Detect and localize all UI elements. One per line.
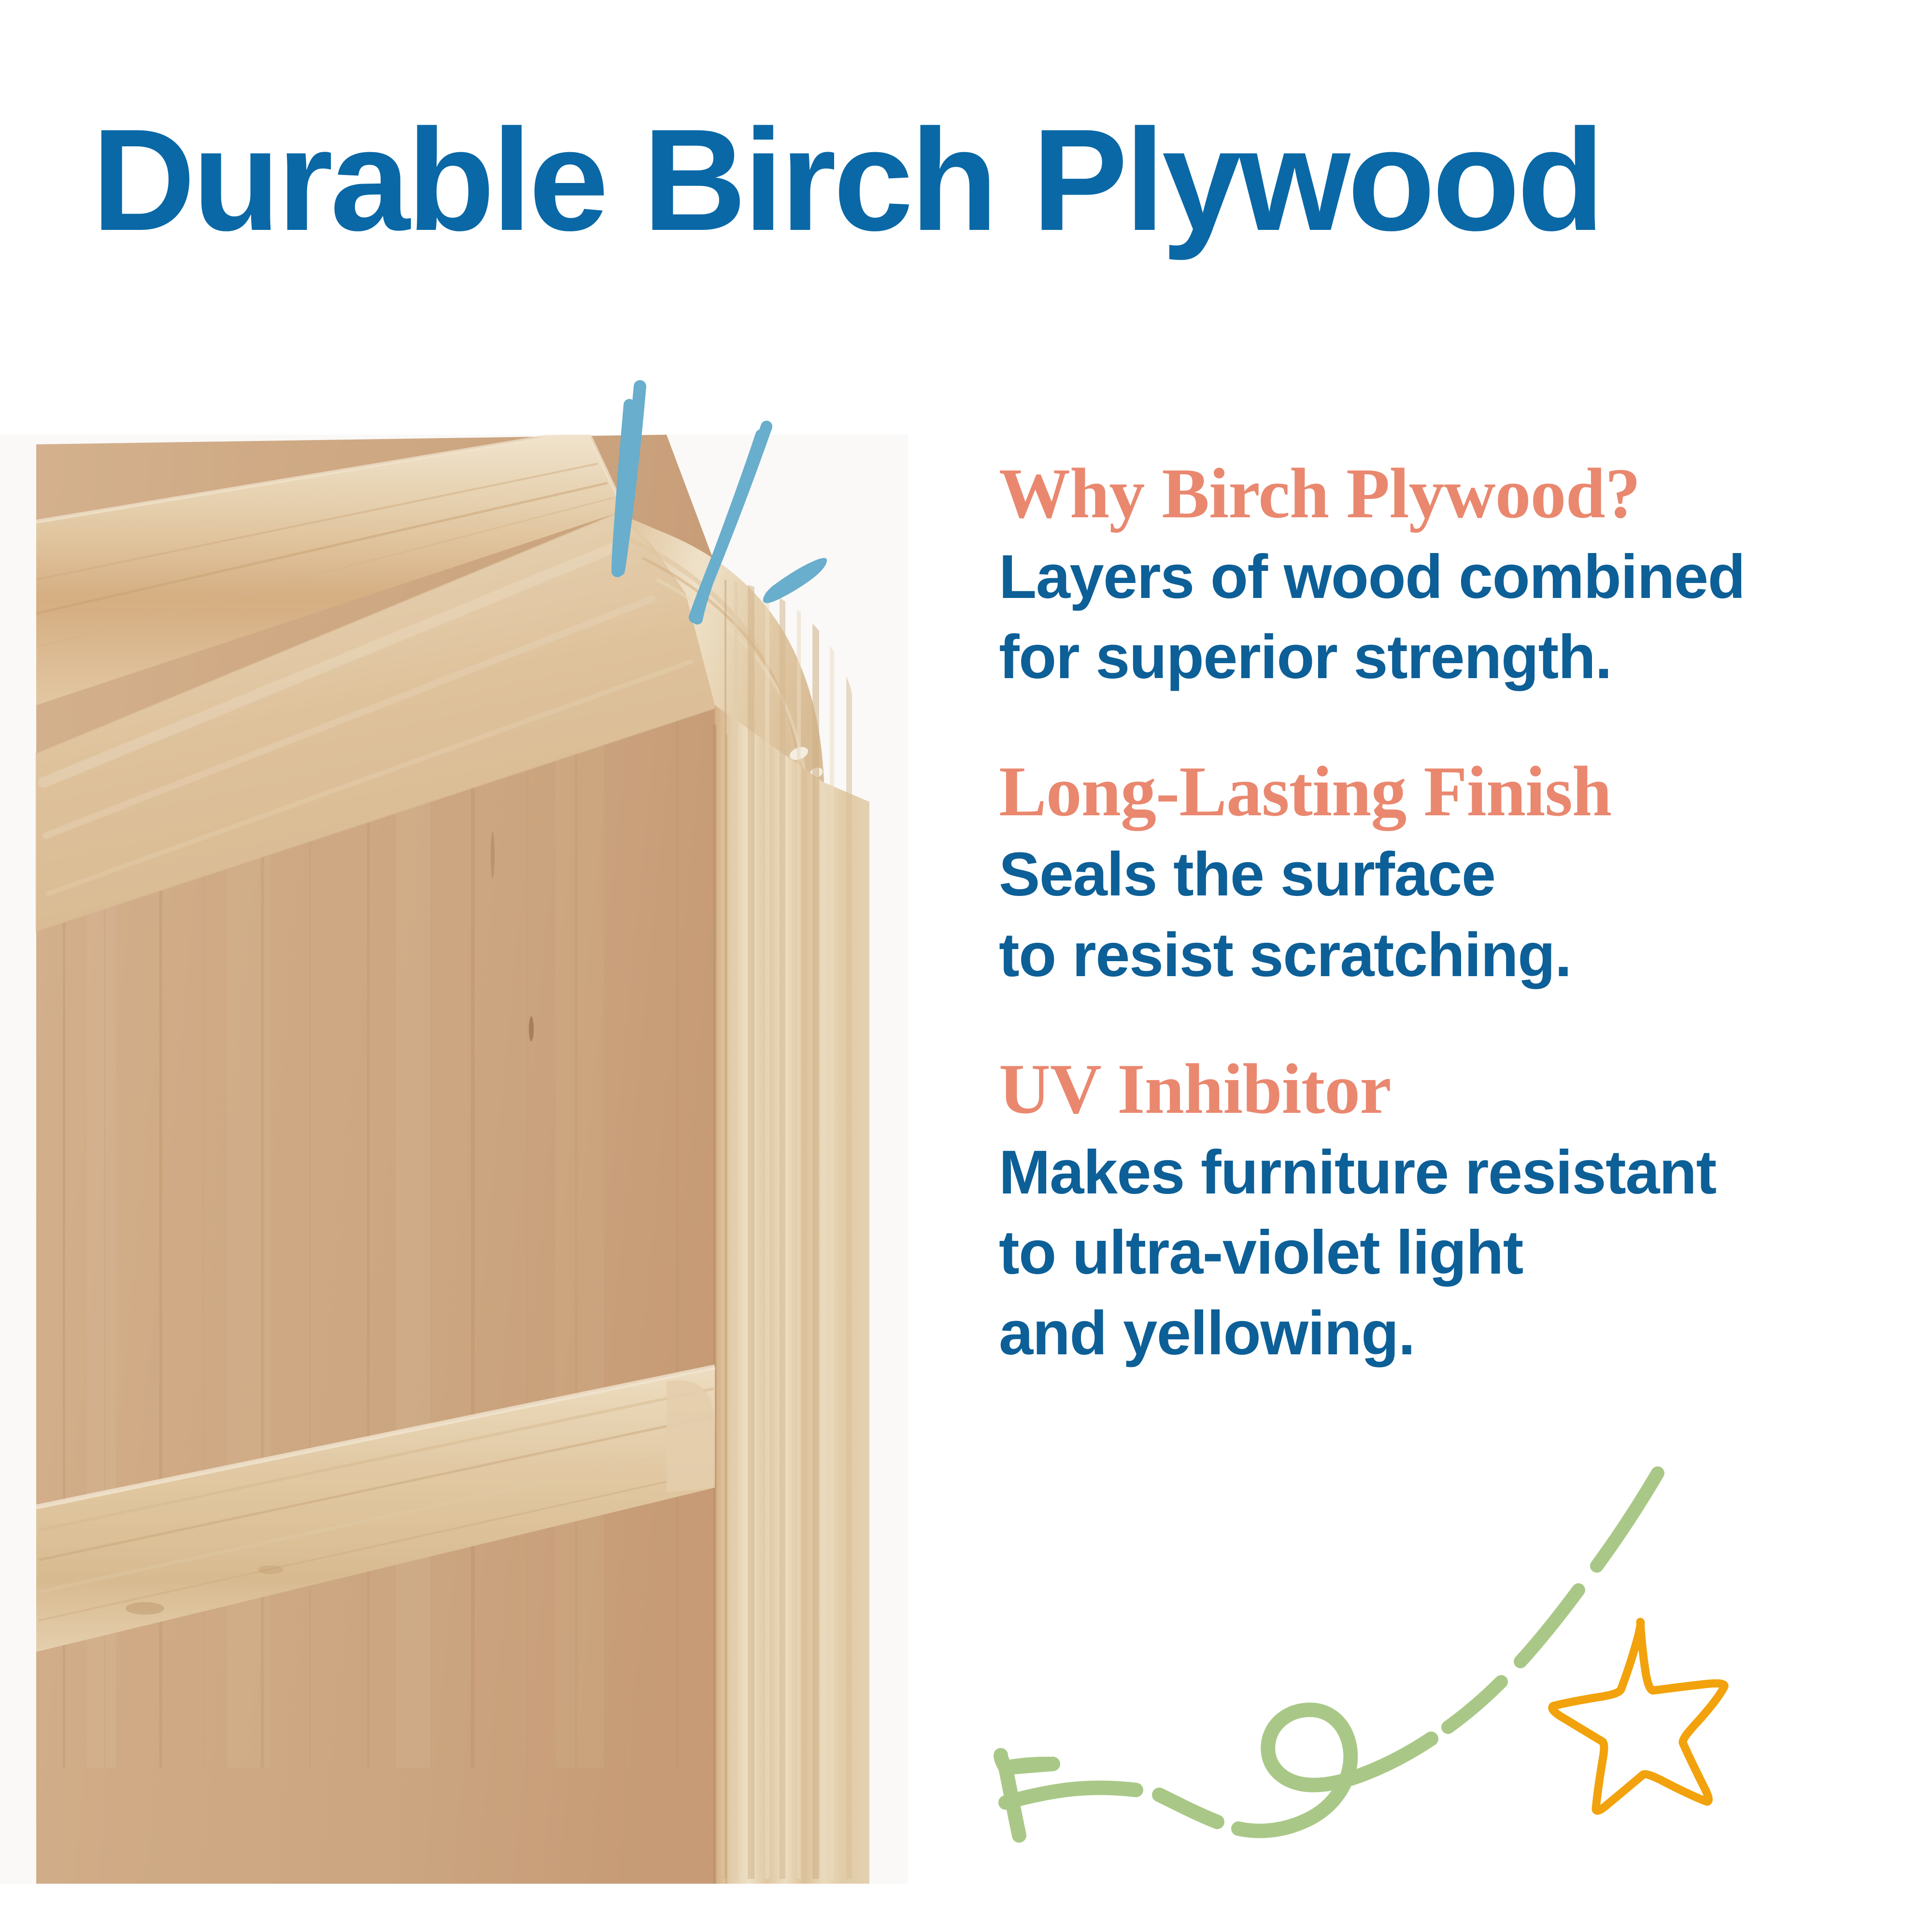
- feature-heading: UV Inhibitor: [999, 1050, 1849, 1130]
- page-title: Durable Birch Plywood: [92, 107, 1602, 252]
- feature-item-0: Why Birch Plywood? Layers of wood combin…: [999, 454, 1849, 698]
- feature-item-2: UV Inhibitor Makes furniture resistant t…: [999, 1050, 1849, 1374]
- poster-canvas: Durable Birch Plywood: [0, 0, 1932, 1932]
- birch-plywood-image: [0, 435, 908, 1884]
- curved-arrow-left: [1001, 1473, 1658, 1835]
- feature-item-1: Long-Lasting Finish Seals the surface to…: [999, 752, 1849, 996]
- feature-heading: Long-Lasting Finish: [999, 752, 1849, 832]
- star-outline: [1552, 1622, 1724, 1811]
- product-photo: [0, 435, 908, 1884]
- feature-body: Layers of wood combined for superior str…: [999, 537, 1849, 698]
- feature-body: Makes furniture resistant to ultra-viole…: [999, 1133, 1849, 1374]
- feature-list: Why Birch Plywood? Layers of wood combin…: [999, 454, 1849, 1374]
- feature-heading: Why Birch Plywood?: [999, 454, 1849, 534]
- feature-body: Seals the surface to resist scratching.: [999, 835, 1849, 995]
